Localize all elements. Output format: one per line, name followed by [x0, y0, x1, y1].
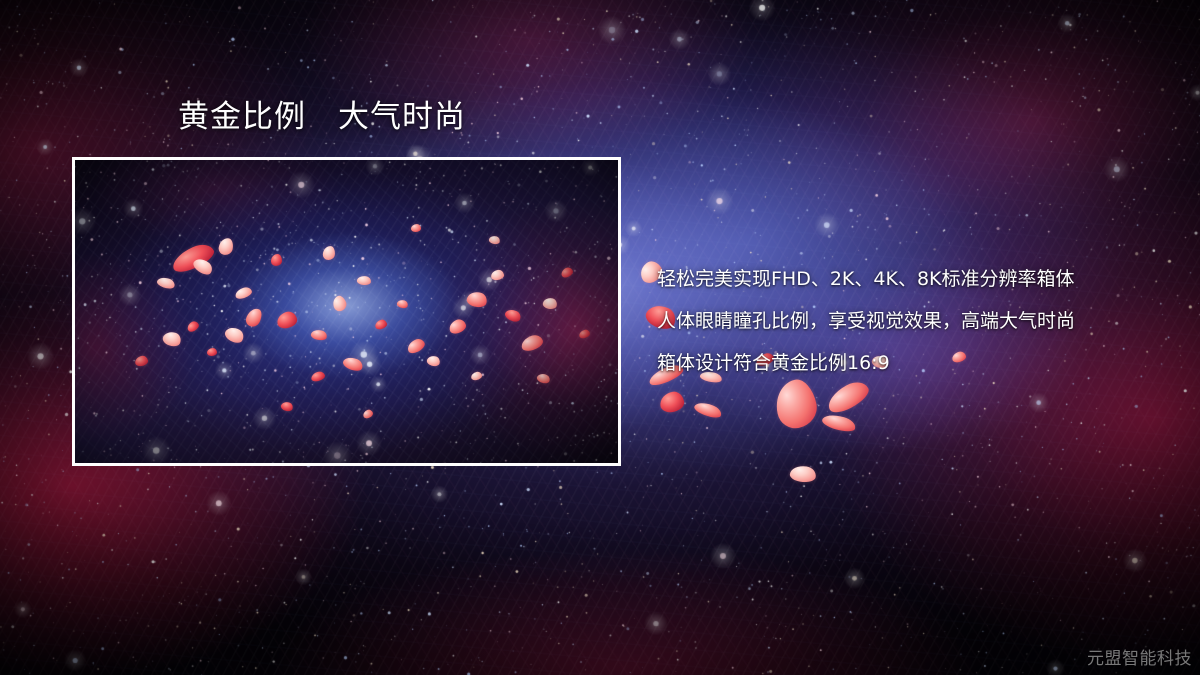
petal	[659, 390, 686, 413]
galaxy-image-panel	[72, 157, 621, 466]
description-line-1: 轻松完美实现FHD、2K、4K、8K标准分辨率箱体	[657, 258, 1177, 300]
petal	[771, 376, 820, 431]
description-line-3: 箱体设计符合黄金比例16:9	[657, 342, 1177, 384]
panel-vignette	[75, 160, 618, 463]
petal	[693, 400, 723, 421]
description-block: 轻松完美实现FHD、2K、4K、8K标准分辨率箱体 人体眼睛瞳孔比例，享受视觉效…	[657, 258, 1177, 384]
petal	[821, 412, 858, 435]
description-line-2: 人体眼睛瞳孔比例，享受视觉效果，高端大气时尚	[657, 300, 1177, 342]
petal	[789, 464, 817, 483]
watermark-label: 元盟智能科技	[1087, 644, 1192, 669]
panel-image	[75, 160, 618, 463]
page-title: 黄金比例 大气时尚	[178, 100, 466, 134]
slide-canvas: 黄金比例 大气时尚 轻松完美实现FHD、2K、4K、8K标准分辨率箱体 人体眼睛…	[0, 0, 1200, 675]
